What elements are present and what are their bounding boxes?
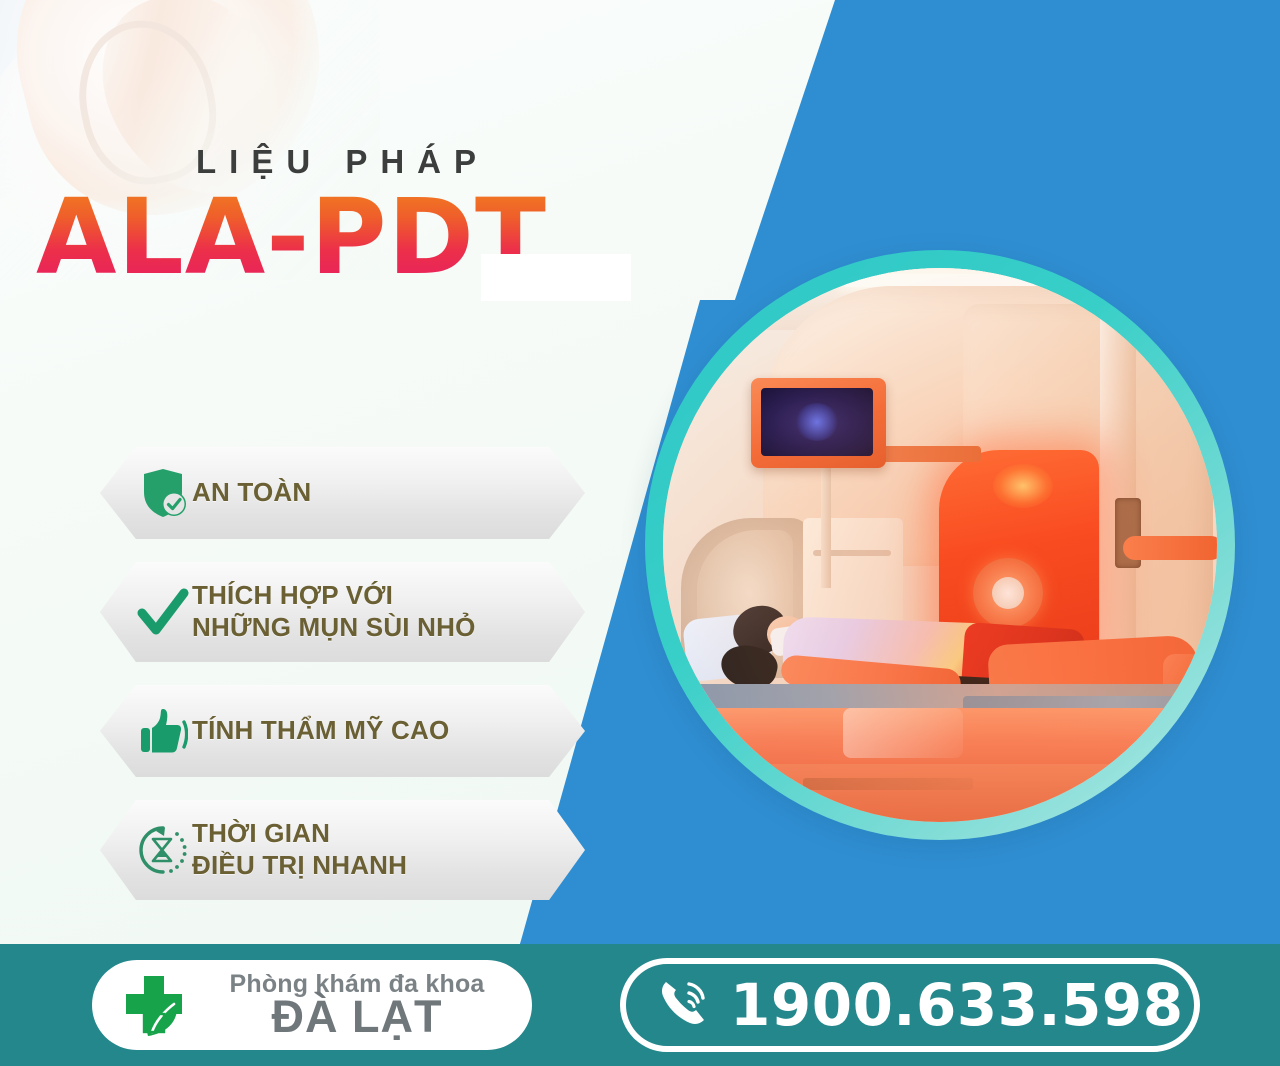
hourglass-clock-icon xyxy=(100,824,192,876)
therapy-photo-ring xyxy=(645,250,1235,840)
blank-white-box xyxy=(481,254,631,301)
kicker-text: LIỆU PHÁP xyxy=(196,145,547,178)
feature-badge-label: THÍCH HỢP VỚI NHỮNG MỤN SÙI NHỎ xyxy=(192,580,496,643)
medical-cross-leaf-icon xyxy=(118,968,192,1042)
footer-bar: Phòng khám đa khoa ĐÀ LẠT 1900.633.598 xyxy=(0,944,1280,1066)
feature-label-line: AN TOÀN xyxy=(192,477,311,509)
feature-badge-suitability[interactable]: THÍCH HỢP VỚI NHỮNG MỤN SÙI NHỎ xyxy=(100,562,585,662)
hotline-button[interactable]: 1900.633.598 xyxy=(620,958,1200,1052)
feature-badge-speed[interactable]: THỜI GIAN ĐIỀU TRỊ NHANH xyxy=(100,800,585,900)
headline-group: LIỆU PHÁP ALA-PDT xyxy=(0,145,547,286)
phone-ringing-icon xyxy=(654,974,712,1037)
feature-label-line: THÍCH HỢP VỚI xyxy=(192,580,476,612)
feature-badge-label: AN TOÀN xyxy=(192,477,331,509)
shield-check-icon xyxy=(100,468,192,518)
feature-label-line: THỜI GIAN xyxy=(192,818,407,850)
thumbs-up-icon xyxy=(100,706,192,756)
feature-badge-label: THỜI GIAN ĐIỀU TRỊ NHANH xyxy=(192,818,427,881)
checkmark-icon xyxy=(100,586,192,638)
therapy-photo xyxy=(663,268,1217,822)
feature-badge-list: AN TOÀN THÍCH HỢP VỚI NHỮNG MỤN SÙI NHỎ xyxy=(100,447,590,923)
clinic-text-block: Phòng khám đa khoa ĐÀ LẠT xyxy=(200,971,532,1039)
feature-badge-safety[interactable]: AN TOÀN xyxy=(100,447,585,539)
feature-label-line: TÍNH THẨM MỸ CAO xyxy=(192,715,449,747)
feature-label-line: ĐIỀU TRỊ NHANH xyxy=(192,850,407,882)
feature-label-line: NHỮNG MỤN SÙI NHỎ xyxy=(192,612,476,644)
clinic-name: ĐÀ LẠT xyxy=(200,994,514,1039)
page-title: ALA-PDT xyxy=(36,190,547,286)
feature-badge-aesthetics[interactable]: TÍNH THẨM MỸ CAO xyxy=(100,685,585,777)
feature-badge-label: TÍNH THẨM MỸ CAO xyxy=(192,715,469,747)
clinic-identity-pill[interactable]: Phòng khám đa khoa ĐÀ LẠT xyxy=(92,960,532,1050)
hotline-number: 1900.633.598 xyxy=(730,971,1184,1039)
poster-canvas: LIỆU PHÁP ALA-PDT AN TOÀN xyxy=(0,0,1280,1066)
